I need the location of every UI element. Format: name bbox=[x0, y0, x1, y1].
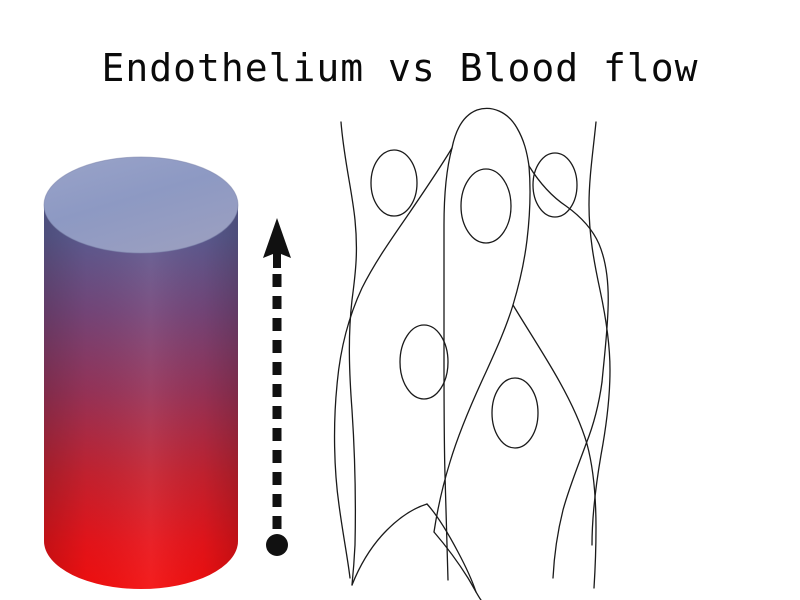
figure-canvas: Endothelium vs Blood flow bbox=[0, 0, 800, 600]
cell-border-left-outer bbox=[341, 122, 356, 585]
cell-border-center-top-arc bbox=[452, 108, 529, 166]
cell-nuclei-group bbox=[371, 150, 577, 448]
cell-borders-group bbox=[335, 108, 610, 600]
cell-border-center-right bbox=[434, 166, 530, 532]
cell-border-right-lower-join bbox=[553, 382, 602, 578]
nucleus-1 bbox=[371, 150, 417, 216]
nucleus-5 bbox=[492, 378, 538, 448]
cell-border-bottom-right bbox=[434, 532, 481, 600]
cell-border-bottom-left-tip bbox=[352, 504, 427, 585]
cell-border-right-diagonal bbox=[513, 305, 596, 588]
nucleus-4 bbox=[400, 325, 448, 399]
nucleus-3 bbox=[533, 153, 577, 217]
nucleus-2 bbox=[461, 169, 511, 243]
endothelium-layer bbox=[0, 0, 800, 600]
